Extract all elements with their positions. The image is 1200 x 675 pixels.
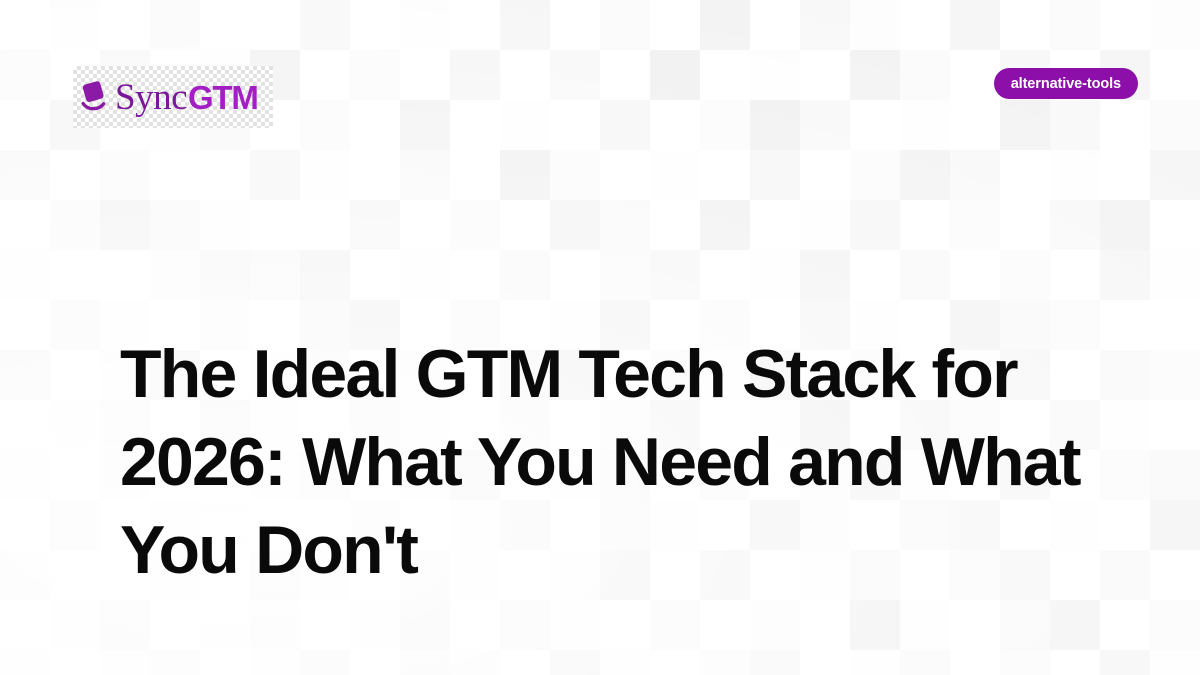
background-cell xyxy=(1000,150,1050,200)
background-cell xyxy=(300,100,350,150)
background-cell xyxy=(350,150,400,200)
background-cell xyxy=(600,600,650,650)
background-cell xyxy=(1000,600,1050,650)
background-cell xyxy=(500,150,550,200)
background-cell xyxy=(450,50,500,100)
background-cell xyxy=(1100,550,1150,600)
background-cell xyxy=(1150,350,1200,400)
background-cell xyxy=(1100,400,1150,450)
background-cell xyxy=(250,600,300,650)
background-cell xyxy=(50,600,100,650)
background-cell xyxy=(1100,200,1150,250)
background-cell xyxy=(750,100,800,150)
background-cell xyxy=(0,400,50,450)
background-cell xyxy=(850,200,900,250)
background-cell xyxy=(950,150,1000,200)
background-cell xyxy=(950,100,1000,150)
background-cell xyxy=(900,200,950,250)
brand-logo[interactable]: Sync GTM xyxy=(73,66,273,128)
background-cell xyxy=(950,200,1000,250)
background-cell xyxy=(0,100,50,150)
background-cell xyxy=(400,150,450,200)
background-cell xyxy=(200,0,250,50)
background-cell xyxy=(500,250,550,300)
background-cell xyxy=(1100,300,1150,350)
background-cell xyxy=(850,150,900,200)
background-cell xyxy=(550,200,600,250)
background-cell xyxy=(100,600,150,650)
background-cell xyxy=(50,550,100,600)
background-cell xyxy=(700,250,750,300)
background-cell xyxy=(850,650,900,675)
background-cell xyxy=(0,450,50,500)
background-cell xyxy=(150,0,200,50)
background-cell xyxy=(450,150,500,200)
background-cell xyxy=(0,150,50,200)
background-cell xyxy=(200,200,250,250)
background-cell xyxy=(50,300,100,350)
background-cell xyxy=(1050,150,1100,200)
background-cell xyxy=(750,650,800,675)
background-cell xyxy=(600,250,650,300)
background-cell xyxy=(900,650,950,675)
background-cell xyxy=(250,0,300,50)
background-cell xyxy=(50,500,100,550)
background-cell xyxy=(700,600,750,650)
background-cell xyxy=(1150,200,1200,250)
background-cell xyxy=(850,0,900,50)
background-cell xyxy=(100,200,150,250)
background-cell xyxy=(700,50,750,100)
background-cell xyxy=(300,0,350,50)
background-cell xyxy=(300,250,350,300)
background-cell xyxy=(450,650,500,675)
background-cell xyxy=(450,0,500,50)
background-cell xyxy=(850,100,900,150)
background-cell xyxy=(150,150,200,200)
background-cell xyxy=(550,600,600,650)
background-cell xyxy=(350,50,400,100)
brand-name-gtm: GTM xyxy=(188,81,258,114)
background-cell xyxy=(550,0,600,50)
background-cell xyxy=(650,150,700,200)
background-cell xyxy=(1100,600,1150,650)
background-cell xyxy=(0,300,50,350)
background-cell xyxy=(600,50,650,100)
background-cell xyxy=(0,550,50,600)
background-cell xyxy=(400,50,450,100)
background-cell xyxy=(1150,650,1200,675)
background-cell xyxy=(200,650,250,675)
background-cell xyxy=(1050,0,1100,50)
background-cell xyxy=(1100,250,1150,300)
background-cell xyxy=(800,650,850,675)
background-cell xyxy=(400,0,450,50)
background-cell xyxy=(0,600,50,650)
background-cell xyxy=(850,600,900,650)
category-badge[interactable]: alternative-tools xyxy=(994,68,1138,99)
background-cell xyxy=(900,250,950,300)
background-cell xyxy=(250,650,300,675)
background-cell xyxy=(400,600,450,650)
background-cell xyxy=(500,200,550,250)
background-cell xyxy=(150,250,200,300)
background-cell xyxy=(800,600,850,650)
background-cell xyxy=(100,250,150,300)
background-cell xyxy=(1100,0,1150,50)
background-cell xyxy=(150,200,200,250)
background-cell xyxy=(950,650,1000,675)
background-cell xyxy=(950,50,1000,100)
background-cell xyxy=(650,250,700,300)
background-cell xyxy=(900,100,950,150)
background-cell xyxy=(800,50,850,100)
background-cell xyxy=(1000,650,1050,675)
background-cell xyxy=(800,150,850,200)
page-title: The Ideal GTM Tech Stack for 2026: What … xyxy=(120,330,1080,594)
background-cell xyxy=(250,150,300,200)
background-cell xyxy=(500,650,550,675)
background-cell xyxy=(0,650,50,675)
background-cell xyxy=(450,100,500,150)
background-cell xyxy=(750,0,800,50)
background-cell xyxy=(750,200,800,250)
background-cell xyxy=(700,0,750,50)
background-cell xyxy=(1000,250,1050,300)
background-cell xyxy=(650,100,700,150)
background-cell xyxy=(700,100,750,150)
background-cell xyxy=(750,150,800,200)
background-cell xyxy=(0,200,50,250)
background-cell xyxy=(1050,650,1100,675)
background-cell xyxy=(650,0,700,50)
background-cell xyxy=(750,600,800,650)
background-cell xyxy=(0,500,50,550)
background-cell xyxy=(300,600,350,650)
background-cell xyxy=(1100,150,1150,200)
background-cell xyxy=(550,650,600,675)
background-cell xyxy=(50,650,100,675)
background-cell xyxy=(600,100,650,150)
background-cell xyxy=(600,650,650,675)
background-cell xyxy=(750,250,800,300)
background-cell xyxy=(300,650,350,675)
background-cell xyxy=(950,250,1000,300)
background-cell xyxy=(850,50,900,100)
background-cell xyxy=(0,250,50,300)
background-cell xyxy=(900,150,950,200)
background-cell xyxy=(800,0,850,50)
background-cell xyxy=(1150,400,1200,450)
background-cell xyxy=(600,150,650,200)
background-cell xyxy=(150,650,200,675)
background-cell xyxy=(100,650,150,675)
background-cell xyxy=(550,50,600,100)
og-social-card: Sync GTM alternative-tools The Ideal GTM… xyxy=(0,0,1200,675)
background-cell xyxy=(1150,0,1200,50)
background-cell xyxy=(1150,150,1200,200)
background-cell xyxy=(350,0,400,50)
background-cell xyxy=(250,250,300,300)
background-cell xyxy=(50,150,100,200)
background-cell xyxy=(300,50,350,100)
background-cell xyxy=(1000,100,1050,150)
background-cell xyxy=(0,50,50,100)
background-cell xyxy=(350,650,400,675)
background-cell xyxy=(400,200,450,250)
background-cell xyxy=(200,600,250,650)
background-cell xyxy=(650,600,700,650)
background-cell xyxy=(1150,600,1200,650)
background-cell xyxy=(800,100,850,150)
background-cell xyxy=(750,50,800,100)
syncgtm-diamond-mark-icon xyxy=(79,80,109,114)
background-cell xyxy=(850,250,900,300)
background-cell xyxy=(550,100,600,150)
background-cell xyxy=(600,200,650,250)
background-cell xyxy=(650,50,700,100)
background-cell xyxy=(1050,250,1100,300)
background-cell xyxy=(1000,200,1050,250)
background-cell xyxy=(900,50,950,100)
background-cell xyxy=(450,200,500,250)
brand-logo-inner: Sync GTM xyxy=(73,79,258,116)
background-cell xyxy=(1050,600,1100,650)
background-cell xyxy=(700,200,750,250)
background-cell xyxy=(650,200,700,250)
background-cell xyxy=(1000,0,1050,50)
background-cell xyxy=(100,150,150,200)
background-cell xyxy=(700,650,750,675)
background-cell xyxy=(900,600,950,650)
background-cell xyxy=(700,150,750,200)
background-cell xyxy=(100,0,150,50)
background-cell xyxy=(500,0,550,50)
background-cell xyxy=(1150,450,1200,500)
background-cell xyxy=(500,50,550,100)
brand-name-sync: Sync xyxy=(115,79,187,116)
background-cell xyxy=(1100,350,1150,400)
background-cell xyxy=(550,250,600,300)
background-cell xyxy=(1150,500,1200,550)
background-cell xyxy=(500,100,550,150)
background-cell xyxy=(50,250,100,300)
background-cell xyxy=(800,200,850,250)
background-cell xyxy=(1150,250,1200,300)
background-cell xyxy=(350,600,400,650)
background-cell xyxy=(1150,100,1200,150)
background-cell xyxy=(550,150,600,200)
background-cell xyxy=(350,250,400,300)
background-cell xyxy=(300,200,350,250)
background-cell xyxy=(50,200,100,250)
background-cell xyxy=(400,100,450,150)
background-cell xyxy=(400,250,450,300)
background-cell xyxy=(250,200,300,250)
background-cell xyxy=(200,250,250,300)
background-cell xyxy=(900,0,950,50)
background-cell xyxy=(950,0,1000,50)
background-cell xyxy=(350,100,400,150)
background-cell xyxy=(50,400,100,450)
background-cell xyxy=(0,350,50,400)
background-cell xyxy=(0,0,50,50)
background-cell xyxy=(1100,500,1150,550)
background-cell xyxy=(500,600,550,650)
background-cell xyxy=(1150,50,1200,100)
background-cell xyxy=(50,350,100,400)
background-cell xyxy=(450,600,500,650)
background-cell xyxy=(300,150,350,200)
background-cell xyxy=(50,0,100,50)
background-cell xyxy=(50,450,100,500)
brand-logo-text: Sync GTM xyxy=(115,79,258,116)
background-cell xyxy=(650,650,700,675)
background-cell xyxy=(1050,100,1100,150)
background-cell xyxy=(950,600,1000,650)
background-cell xyxy=(450,250,500,300)
background-cell xyxy=(150,600,200,650)
background-cell xyxy=(1100,450,1150,500)
background-cell xyxy=(1150,300,1200,350)
background-cell xyxy=(350,200,400,250)
background-cell xyxy=(400,650,450,675)
background-cell xyxy=(200,150,250,200)
background-cell xyxy=(1100,100,1150,150)
background-cell xyxy=(1050,200,1100,250)
background-cell xyxy=(1100,650,1150,675)
background-cell xyxy=(1150,550,1200,600)
background-cell xyxy=(800,250,850,300)
background-cell xyxy=(600,0,650,50)
